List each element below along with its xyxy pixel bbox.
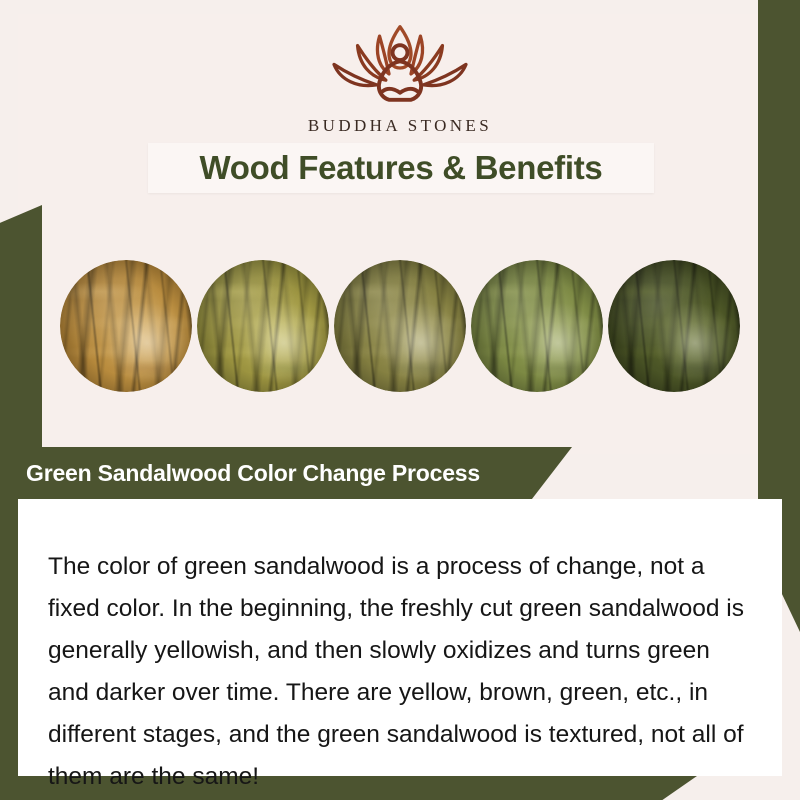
wood-bead-gallery <box>0 258 800 394</box>
bead-stage-3-olive <box>334 260 466 392</box>
bead-highlight-shading <box>60 260 192 392</box>
bead-stage-5-dark-green <box>608 260 740 392</box>
bead-highlight-shading <box>608 260 740 392</box>
bead-stage-1-yellowish <box>60 260 192 392</box>
brand-wordmark: BUDDHA STONES <box>0 116 800 136</box>
description-text: The color of green sandalwood is a proce… <box>48 546 748 798</box>
bead-highlight-shading <box>471 260 603 392</box>
bead-highlight-shading <box>197 260 329 392</box>
section-label-text: Green Sandalwood Color Change Process <box>0 460 480 487</box>
section-label-banner: Green Sandalwood Color Change Process <box>0 447 572 499</box>
page-title: Wood Features & Benefits <box>200 149 603 187</box>
brand-logo-block: BUDDHA STONES <box>0 22 800 136</box>
lotus-meditation-figure-icon <box>312 22 488 110</box>
poster-root: BUDDHA STONES Wood Features & Benefits G… <box>0 0 800 800</box>
bead-stage-4-green <box>471 260 603 392</box>
bead-highlight-shading <box>334 260 466 392</box>
title-banner: Wood Features & Benefits <box>148 143 654 193</box>
bead-stage-2-yellow-green <box>197 260 329 392</box>
description-card: The color of green sandalwood is a proce… <box>18 499 782 776</box>
